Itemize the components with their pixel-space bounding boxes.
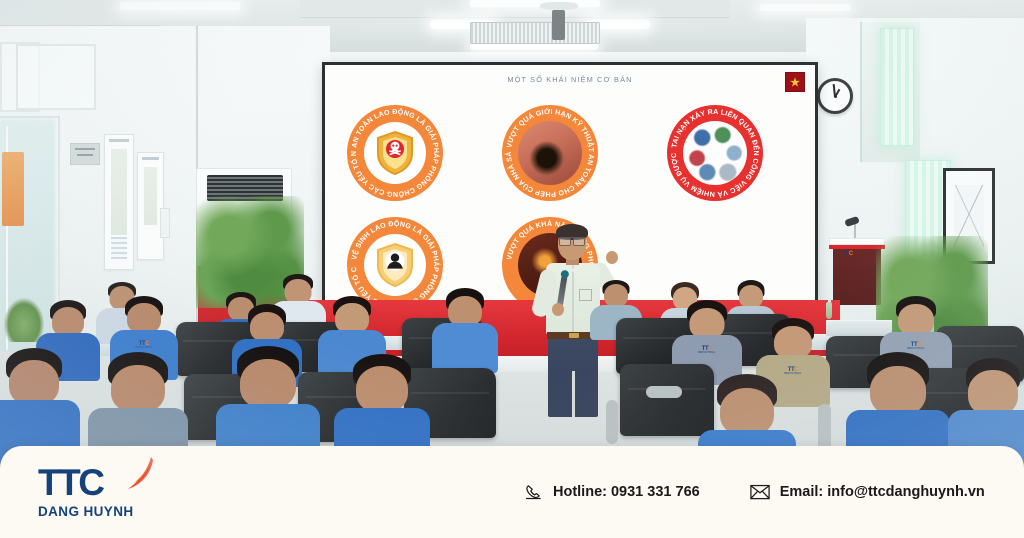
wall-sign	[70, 143, 100, 165]
speaker-left-hand	[552, 303, 564, 316]
poster-graphic	[111, 149, 127, 235]
ceiling-light	[120, 2, 240, 10]
poster-chart	[111, 237, 127, 259]
contact-email-label: Email: info@ttcdanghuynh.vn	[780, 484, 985, 500]
phone-icon	[524, 483, 543, 502]
slide-logo-glyph: ★	[790, 76, 800, 89]
uniform-logo: TTCINDUSTRIAL	[907, 342, 925, 351]
ceiling-light	[760, 4, 850, 11]
head	[240, 359, 296, 409]
head	[739, 285, 763, 308]
uniform-logo-sub: INDUSTRIAL	[907, 348, 925, 351]
chair-arm	[646, 386, 682, 398]
mail-icon	[750, 483, 770, 501]
audience-member	[432, 288, 498, 370]
head	[720, 388, 774, 436]
screenshot-root: TTC MỘT SỐ KHÁI NIỆM CƠ BẢN ★ AN TOÀN LA…	[0, 0, 1024, 538]
swoosh-icon	[124, 456, 154, 490]
badge-tai-nan-xay-ra: TAI NẠN XẢY RA LIÊN QUAN ĐẾN CÔNG VIỆC V…	[667, 105, 763, 201]
wall-sign-line	[75, 148, 95, 150]
window-frame	[16, 44, 96, 110]
projector	[552, 10, 565, 40]
chair-arm	[818, 404, 831, 452]
badge-an-toan-lao-dong: AN TOÀN LAO ĐỘNG LÀ GIẢI PHÁP PHÒNG CHỐN…	[347, 105, 443, 201]
head	[870, 366, 926, 416]
contact-hotline[interactable]: Hotline: 0931 331 766	[524, 483, 700, 502]
water-bottle	[826, 302, 832, 319]
brand-wordmark: TTC	[38, 464, 188, 501]
head	[356, 366, 408, 413]
accident-collage	[683, 121, 747, 185]
uniform-logo: TTCINDUSTRIAL	[698, 346, 716, 355]
poster-title-bar	[142, 157, 159, 160]
ceiling-light	[470, 43, 598, 50]
badge-vuot-qua-gioi-han: VƯỢT QUÁ GIỚI HẠN KỸ THUẬT AN TOÀN CHO P…	[502, 105, 598, 201]
wall-plate	[160, 208, 170, 238]
footer-bar: TTC DANG HUYNH Hotline: 0931 331 766	[0, 446, 1024, 538]
chair-arm	[606, 400, 618, 444]
contact-hotline-label: Hotline: 0931 331 766	[553, 484, 700, 500]
slide-title: MỘT SỐ KHÁI NIỆM CƠ BẢN	[325, 75, 815, 84]
uniform-logo-sub: INDUSTRIAL	[135, 347, 153, 350]
brand-subtitle: DANG HUYNH	[38, 504, 188, 519]
head	[604, 284, 628, 307]
wall-poster	[137, 152, 164, 260]
torso	[432, 323, 498, 373]
podium-logo: TTC	[842, 251, 853, 257]
poster-graphic	[144, 167, 157, 225]
contact-email[interactable]: Email: info@ttcdanghuynh.vn	[750, 483, 985, 501]
brand-logo: TTC DANG HUYNH	[38, 464, 188, 522]
uniform-logo-sub: INDUSTRIAL	[698, 352, 716, 355]
window-blinds	[880, 28, 914, 146]
ceiling-light	[470, 0, 600, 7]
shield-worker-icon	[375, 242, 415, 288]
head	[250, 312, 284, 342]
slide-corner-logo: ★	[785, 72, 805, 92]
speaker-trousers	[548, 337, 598, 417]
wall-sign-line	[77, 154, 93, 156]
badge-ve-sinh-lao-dong: VỆ SINH LAO ĐỘNG LÀ GIẢI PHÁP PHÒNG CHỐN…	[347, 217, 443, 303]
wall-poster	[104, 134, 134, 270]
poster-title-bar	[109, 139, 129, 142]
wall-clock	[817, 78, 853, 114]
clock-center	[834, 95, 837, 98]
podium: TTC	[833, 243, 881, 305]
footer-contacts: Hotline: 0931 331 766 Email: info@ttcdan…	[524, 446, 985, 538]
speaker-right-hand	[606, 251, 618, 264]
shield-skull-icon	[375, 130, 415, 176]
ac-diffuser	[470, 22, 600, 44]
speaker-glasses	[559, 237, 585, 243]
cabinet-banner	[2, 152, 24, 226]
hand-flame-photo	[518, 121, 582, 185]
seminar-photograph: TTC MỘT SỐ KHÁI NIỆM CƠ BẢN ★ AN TOÀN LA…	[0, 0, 1024, 470]
head	[111, 365, 165, 413]
uniform-logo: TTCINDUSTRIAL	[135, 341, 153, 350]
